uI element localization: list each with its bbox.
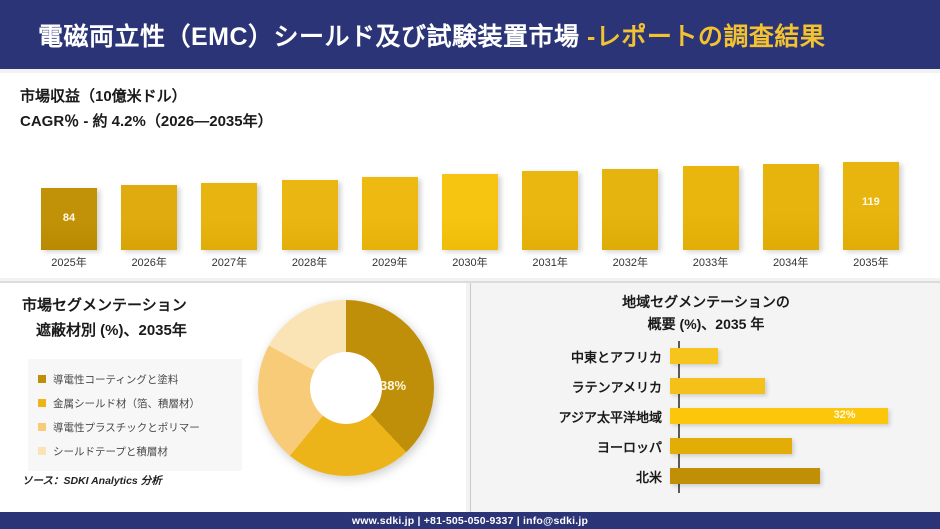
bar-value-label: 84	[41, 212, 97, 224]
region-bar-holder	[670, 431, 929, 461]
x-axis-label: 2033年	[680, 254, 742, 274]
title-accent-text: -レポートの調査結果	[587, 23, 825, 51]
bar: 84	[41, 188, 97, 250]
legend-swatch-icon	[38, 399, 46, 407]
bar	[522, 171, 578, 250]
revenue-label-line2: CAGR％ - 約 4.2%（2026—2035年）	[20, 109, 273, 135]
region-title-line1: 地域セグメンテーションの	[622, 294, 790, 310]
bar-column	[519, 154, 581, 250]
x-axis-label: 2034年	[760, 254, 822, 274]
revenue-bars-wrapper: 84119 2025年2026年2027年2028年2029年2030年2031…	[0, 153, 940, 278]
region-bar	[670, 468, 820, 484]
region-bar	[670, 378, 765, 394]
bar-column	[760, 154, 822, 250]
bar: 119	[843, 162, 899, 250]
legend-item: 金属シールド材（箔、積層材）	[38, 391, 236, 415]
region-label: 中東とアフリカ	[485, 347, 670, 366]
region-label: アジア太平洋地域	[485, 407, 670, 426]
legend-swatch-icon	[38, 375, 46, 383]
legend-label: 金属シールド材（箔、積層材）	[53, 396, 200, 411]
bar-column	[439, 154, 501, 250]
bar-column	[359, 154, 421, 250]
region-bar	[670, 348, 718, 364]
revenue-x-axis-labels: 2025年2026年2027年2028年2029年2030年2031年2032年…	[38, 254, 902, 274]
page-title: 電磁両立性（EMC）シールド及び試験装置市場 -レポートの調査結果	[0, 17, 825, 53]
region-bar-holder	[670, 371, 929, 401]
bar	[683, 166, 739, 250]
bar-column	[680, 154, 742, 250]
segmentation-legend: 導電性コーティングと塗料金属シールド材（箔、積層材）導電性プラスチックとポリマー…	[28, 359, 242, 471]
region-row: ヨーロッパ	[485, 431, 929, 461]
region-panel: 地域セグメンテーションの 概要 (%)、2035 年 中東とアフリカラテンアメリ…	[470, 283, 940, 512]
x-axis-label: 2028年	[279, 254, 341, 274]
bar-column	[198, 154, 260, 250]
x-axis-label: 2029年	[359, 254, 421, 274]
bar	[282, 180, 338, 250]
bar	[121, 185, 177, 250]
footer-contact-text: www.sdki.jp | +81-505-050-9337 | info@sd…	[352, 515, 588, 527]
revenue-label-line1: 市場収益（10億米ドル）	[20, 85, 273, 109]
legend-item: 導電性プラスチックとポリマー	[38, 415, 236, 439]
x-axis-label: 2030年	[439, 254, 501, 274]
revenue-chart-panel: 市場収益（10億米ドル） CAGR％ - 約 4.2%（2026—2035年） …	[0, 73, 940, 278]
donut-hole	[310, 352, 382, 424]
x-axis-label: 2031年	[519, 254, 581, 274]
bar	[362, 177, 418, 250]
x-axis-label: 2026年	[118, 254, 180, 274]
region-bar	[670, 438, 792, 454]
footer-bar: www.sdki.jp | +81-505-050-9337 | info@sd…	[0, 512, 940, 529]
source-note: ソース：SDKI Analytics 分析	[22, 473, 162, 488]
donut-chart: 38%	[258, 300, 464, 480]
region-bar-holder	[670, 461, 929, 491]
region-row: 北米	[485, 461, 929, 491]
bar-column	[118, 154, 180, 250]
bar	[442, 174, 498, 250]
header-banner: 電磁両立性（EMC）シールド及び試験装置市場 -レポートの調査結果	[0, 0, 940, 69]
x-axis-label: 2025年	[38, 254, 100, 274]
bar	[201, 183, 257, 250]
region-bar: 32%	[670, 408, 888, 424]
bar-column	[599, 154, 661, 250]
bar-column: 119	[840, 154, 902, 250]
donut-value-label: 38%	[380, 378, 406, 393]
legend-item: シールドテープと積層材	[38, 439, 236, 463]
region-row: アジア太平洋地域32%	[485, 401, 929, 431]
legend-swatch-icon	[38, 423, 46, 431]
donut-disc	[258, 300, 434, 476]
bar	[602, 169, 658, 250]
region-row: ラテンアメリカ	[485, 371, 929, 401]
bar-column	[279, 154, 341, 250]
region-label: ラテンアメリカ	[485, 377, 670, 396]
legend-swatch-icon	[38, 447, 46, 455]
infographic-page: 電磁両立性（EMC）シールド及び試験装置市場 -レポートの調査結果 市場収益（1…	[0, 0, 940, 529]
title-main-text: 電磁両立性（EMC）シールド及び試験装置市場	[38, 23, 587, 51]
region-bar-holder	[670, 341, 929, 371]
region-bar-holder: 32%	[670, 401, 929, 431]
bar-column: 84	[38, 154, 100, 250]
region-bar-chart: 中東とアフリカラテンアメリカアジア太平洋地域32%ヨーロッパ北米	[485, 341, 929, 501]
bar-value-label: 119	[843, 196, 899, 208]
region-label: 北米	[485, 467, 670, 486]
segmentation-title: 市場セグメンテーション 遮蔽材別 (%)、2035年	[22, 293, 282, 343]
x-axis-label: 2027年	[198, 254, 260, 274]
x-axis-label: 2032年	[599, 254, 661, 274]
bar	[763, 164, 819, 250]
segmentation-title-line2: 遮蔽材別 (%)、2035年	[22, 318, 282, 343]
legend-label: シールドテープと積層材	[53, 444, 168, 459]
region-title: 地域セグメンテーションの 概要 (%)、2035 年	[471, 291, 940, 335]
region-row: 中東とアフリカ	[485, 341, 929, 371]
region-value-label: 32%	[834, 409, 856, 421]
legend-label: 導電性プラスチックとポリマー	[53, 420, 200, 435]
segmentation-title-line1: 市場セグメンテーション	[22, 297, 187, 314]
revenue-bars: 84119	[38, 154, 902, 250]
revenue-chart-labels: 市場収益（10億米ドル） CAGR％ - 約 4.2%（2026—2035年）	[20, 85, 273, 135]
x-axis-label: 2035年	[840, 254, 902, 274]
legend-label: 導電性コーティングと塗料	[53, 372, 178, 387]
region-title-line2: 概要 (%)、2035 年	[648, 316, 765, 332]
region-label: ヨーロッパ	[485, 437, 670, 456]
legend-item: 導電性コーティングと塗料	[38, 367, 236, 391]
